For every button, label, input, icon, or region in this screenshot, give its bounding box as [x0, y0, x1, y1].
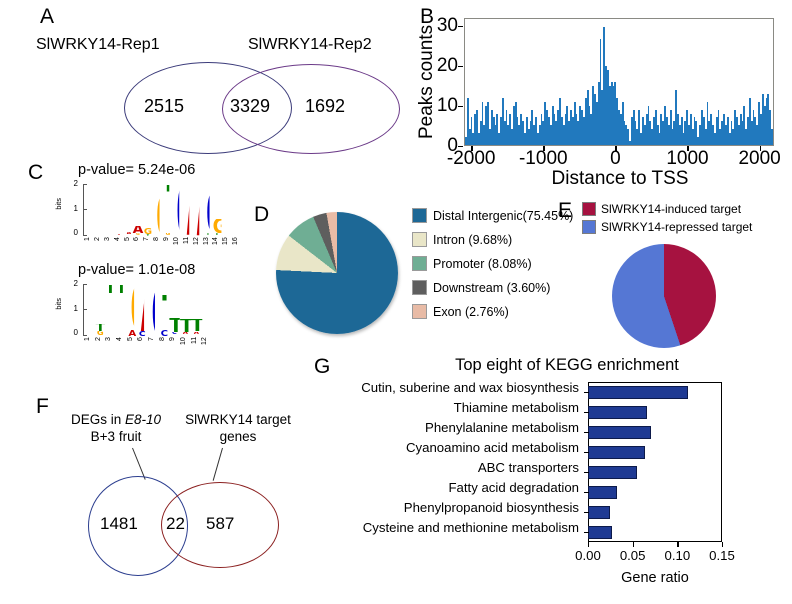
logo-1-stacks: AATAGGTGTGCAACTGT [84, 184, 242, 236]
venn-a-left-label: SlWRKY14-Rep1 [36, 36, 160, 54]
logo-2-bits-label: bits [54, 298, 63, 310]
logo-position-stack: T [105, 284, 116, 336]
kegg-bar [588, 526, 612, 539]
logo-position-tick: 6 [133, 237, 143, 251]
logo-base-letter: C [206, 193, 209, 233]
panel-e-letter: E [558, 200, 572, 221]
legend-label: Distal Intergenic(75.45%) [433, 209, 573, 223]
kegg-y-tickmark [584, 452, 589, 453]
histogram-x-tick: 2000 [725, 148, 792, 170]
logo-position-stack [94, 184, 104, 236]
pie-chart-d [276, 212, 398, 334]
kegg-bar [588, 486, 617, 499]
logo-1-title: p-value= 5.24e-06 [78, 162, 195, 178]
logo-base-letter: G [157, 196, 160, 236]
logo-position-tick: 16 [232, 237, 242, 251]
logo-2-title: p-value= 1.01e-08 [78, 262, 195, 278]
histogram-y-tick: 20 [424, 55, 458, 77]
histogram-x-axis-label: Distance to TSS [464, 168, 776, 190]
kegg-category-label: Fatty acid degradation [312, 478, 584, 498]
logo-position-tick: 13 [203, 237, 213, 251]
panel-c-letter: C [28, 162, 43, 183]
panel-c-sequence-logos: C p-value= 5.24e-06 2 1 0 bits AATAGGTGT… [0, 158, 252, 370]
logo-base-letter: T [162, 295, 166, 330]
logo-position-stack [84, 184, 94, 236]
logo-position-stack: G [153, 184, 163, 236]
histogram-bar [771, 129, 773, 145]
logo-position-tick: 1 [84, 237, 94, 251]
venn-f-left-label: DEGs in E8-10 B+3 fruit [58, 412, 174, 446]
logo-position-tick: 15 [222, 237, 232, 251]
logo-position-stack: C [148, 284, 159, 336]
legend-color-swatch [412, 256, 427, 271]
logo-base-letter: T [180, 319, 191, 333]
kegg-chart-title: Top eight of KEGG enrichment [352, 356, 782, 375]
kegg-x-tick: 0.05 [610, 548, 656, 563]
logo-position-stack: A [114, 184, 124, 236]
logo-base-letter: T [120, 285, 123, 336]
logo-position-tick: 11 [183, 237, 193, 251]
venn-a-right-label: SlWRKY14-Rep2 [248, 36, 372, 54]
logo-position-tick: 9 [169, 337, 180, 351]
venn-f-left-label-line2: B+3 fruit [58, 429, 174, 446]
legend-label: SlWRKY14-repressed target [601, 220, 752, 234]
logo-position-stack: TC [169, 284, 180, 336]
logo-position-tick: 10 [173, 237, 183, 251]
venn-f-left-count: 1481 [100, 514, 138, 534]
logo-base-letter: T [170, 318, 180, 332]
logo-position-stack: A [183, 184, 193, 236]
logo-2-y-axis: 2 1 0 bits [66, 284, 84, 336]
panel-g-kegg-bar-chart: G Top eight of KEGG enrichment Cutin, su… [312, 352, 792, 604]
venn-f-right-label-line1: SlWRKY14 target [182, 412, 294, 429]
kegg-category-label: Cysteine and methionine metabolism [312, 518, 584, 538]
logo-position-stack: A [193, 184, 203, 236]
pie-d-legend-item: Promoter (8.08%) [412, 256, 573, 271]
logo-base-letter: C [177, 187, 180, 236]
logo-position-tick: 7 [148, 337, 159, 351]
pie-d-legend-item: Intron (9.68%) [412, 232, 573, 247]
logo-position-stack: TA [191, 284, 202, 336]
histogram-x-tick: 1000 [652, 148, 722, 170]
kegg-bar [588, 406, 647, 419]
panel-g-letter: G [314, 356, 330, 377]
logo-base-letter: G [130, 286, 133, 330]
venn-f-left-leader-line [132, 448, 146, 480]
kegg-y-tickmark [584, 532, 589, 533]
logo-position-tick: 10 [180, 337, 191, 351]
kegg-y-tickmark [584, 432, 589, 433]
logo-base-letter: T [190, 319, 201, 332]
logo-position-tick: 7 [143, 237, 153, 251]
logo-position-tick: 9 [163, 237, 173, 251]
venn-f-right-label-line2: genes [182, 429, 294, 446]
venn-f-right-label: SlWRKY14 target genes [182, 412, 294, 446]
logo-position-tick: 8 [159, 337, 170, 351]
logo-base-letter: G [213, 219, 222, 233]
kegg-x-tickmark [588, 542, 589, 547]
venn-f-right-count: 587 [206, 514, 234, 534]
kegg-y-tickmark [584, 492, 589, 493]
kegg-y-tickmark [584, 412, 589, 413]
kegg-category-label: Phenylalanine metabolism [312, 418, 584, 438]
panel-f-venn: F DEGs in E8-10 B+3 fruit SlWRKY14 targe… [0, 390, 312, 604]
kegg-x-axis-label: Gene ratio [588, 570, 722, 586]
histogram-y-tick: 10 [424, 95, 458, 117]
venn-a-intersection-count: 3329 [230, 96, 270, 117]
kegg-x-tickmark [722, 542, 723, 547]
logo-position-stack: CT [203, 184, 213, 236]
histogram-x-tickmark [471, 146, 472, 151]
logo-1-position-ticks: 12345678910111213141516 [84, 237, 242, 251]
kegg-bar [588, 386, 688, 399]
logo-position-stack: GA [127, 284, 138, 336]
histogram-x-tickmark [760, 146, 761, 151]
sequence-logo-1: 2 1 0 bits AATAGGTGTGCAACTGT [66, 184, 242, 236]
logo-2-position-ticks: 123456789101112 [84, 337, 212, 351]
legend-label: Intron (9.68%) [433, 233, 512, 247]
panel-e-pie: E SlWRKY14-induced targetSlWRKY14-repres… [556, 198, 792, 356]
pie-e-legend-item: SlWRKY14-repressed target [582, 220, 752, 234]
kegg-bar [588, 506, 610, 519]
venn-f-intersection-count: 22 [166, 514, 185, 534]
logo-position-tick: 14 [212, 237, 222, 251]
kegg-x-tick: 0.00 [565, 548, 611, 563]
logo-2-stacks: TGTTGAACCTCTCTATA [84, 284, 212, 336]
logo-position-stack: TG [95, 284, 106, 336]
logo-base-letter: A [196, 188, 199, 236]
kegg-y-tickmark [584, 472, 589, 473]
panel-b-histogram: B Peaks counts 0102030 -2000-10000100020… [418, 0, 792, 196]
logo-base-letter: A [141, 286, 144, 331]
histogram-y-axis-label: Peaks counts [416, 18, 438, 146]
logo-position-stack [104, 184, 114, 236]
venn-a-right-count: 1692 [305, 96, 345, 117]
histogram-y-tick: 30 [424, 15, 458, 37]
pie-d-legend-item: Distal Intergenic(75.45%) [412, 208, 573, 223]
kegg-category-label: Cutin, suberine and wax biosynthesis [312, 378, 584, 398]
pie-d-legend: Distal Intergenic(75.45%)Intron (9.68%)P… [412, 208, 573, 328]
kegg-category-label: Cyanoamino acid metabolism [312, 438, 584, 458]
panel-d-pie: D Distal Intergenic(75.45%)Intron (9.68%… [252, 198, 558, 353]
histogram-x-tick: -1000 [508, 148, 578, 170]
panel-a-letter: A [40, 6, 54, 27]
logo-position-stack: TA [180, 284, 191, 336]
legend-label: Downstream (3.60%) [433, 281, 550, 295]
logo-position-stack: T [116, 284, 127, 336]
pie-chart-e [612, 244, 716, 348]
logo-position-tick: 8 [153, 237, 163, 251]
logo-position-tick: 12 [201, 337, 212, 351]
kegg-bar [588, 466, 637, 479]
logo-position-stack: GT [143, 184, 153, 236]
logo-position-tick: 4 [116, 337, 127, 351]
kegg-category-label: ABC transporters [312, 458, 584, 478]
logo-position-tick: 5 [127, 337, 138, 351]
pie-d-legend-item: Downstream (3.60%) [412, 280, 573, 295]
legend-color-swatch [582, 202, 596, 216]
pie-d-legend-item: Exon (2.76%) [412, 304, 573, 319]
kegg-x-tickmark [633, 542, 634, 547]
pie-e-legend-item: SlWRKY14-induced target [582, 202, 752, 216]
logo-position-stack: AC [137, 284, 148, 336]
legend-label: SlWRKY14-induced target [601, 202, 741, 216]
venn-f-right-leader-line [213, 448, 223, 481]
logo-position-tick: 6 [137, 337, 148, 351]
kegg-bar [588, 426, 651, 439]
logo-base-letter: T [167, 185, 170, 233]
panel-a-venn: A SlWRKY14-Rep1 SlWRKY14-Rep2 2515 3329 … [0, 0, 410, 160]
logo-position-stack [201, 284, 212, 336]
legend-label: Exon (2.76%) [433, 305, 509, 319]
kegg-category-labels: Cutin, suberine and wax biosynthesisThia… [312, 378, 584, 538]
kegg-category-label: Phenylpropanoid biosynthesis [312, 498, 584, 518]
kegg-bars [588, 382, 722, 542]
logo-position-stack: GT [212, 184, 222, 236]
legend-label: Promoter (8.08%) [433, 257, 532, 271]
histogram-y-tickmark [458, 66, 463, 67]
logo-position-stack [232, 184, 242, 236]
logo-position-tick: 2 [95, 337, 106, 351]
logo-base-letter: A [186, 187, 189, 236]
logo-position-tick: 3 [105, 337, 116, 351]
panel-f-letter: F [36, 396, 49, 417]
histogram-plot-area [464, 18, 774, 146]
logo-position-tick: 3 [104, 237, 114, 251]
logo-position-stack: TG [163, 184, 173, 236]
logo-position-tick: 2 [94, 237, 104, 251]
kegg-category-label: Thiamine metabolism [312, 398, 584, 418]
histogram-bars [465, 19, 773, 145]
logo-position-tick: 4 [114, 237, 124, 251]
kegg-y-tickmark [584, 392, 589, 393]
logo-base-letter: T [109, 285, 112, 336]
venn-a-left-count: 2515 [144, 96, 184, 117]
histogram-x-tick: -2000 [436, 148, 506, 170]
logo-position-tick: 11 [191, 337, 202, 351]
histogram-x-tickmark [615, 146, 616, 151]
logo-1-bits-label: bits [54, 198, 63, 210]
kegg-y-tickmark [584, 512, 589, 513]
legend-color-swatch [412, 280, 427, 295]
histogram-y-tickmark [458, 106, 463, 107]
legend-color-swatch [412, 232, 427, 247]
legend-color-swatch [582, 220, 596, 234]
legend-color-swatch [412, 304, 427, 319]
logo-base-letter: C [152, 289, 155, 336]
histogram-x-tickmark [543, 146, 544, 151]
kegg-x-tick: 0.15 [699, 548, 745, 563]
kegg-x-tick: 0.10 [654, 548, 700, 563]
logo-position-stack [222, 184, 232, 236]
panel-d-letter: D [254, 204, 269, 225]
legend-color-swatch [412, 208, 427, 223]
kegg-bar [588, 446, 645, 459]
histogram-y-tickmark [458, 26, 463, 27]
venn-f-left-label-line1: DEGs in E8-10 [58, 412, 174, 429]
logo-position-stack: C [173, 184, 183, 236]
histogram-x-tickmark [687, 146, 688, 151]
logo-position-tick: 1 [84, 337, 95, 351]
logo-position-stack: TC [159, 284, 170, 336]
logo-position-tick: 12 [193, 237, 203, 251]
sequence-logo-2: 2 1 0 bits TGTTGAACCTCTCTATA [66, 284, 212, 336]
logo-1-y-axis: 2 1 0 bits [66, 184, 84, 236]
histogram-x-tick: 0 [580, 148, 650, 170]
kegg-x-tickmark [677, 542, 678, 547]
pie-e-legend: SlWRKY14-induced targetSlWRKY14-represse… [582, 202, 752, 238]
logo-position-tick: 5 [124, 237, 134, 251]
